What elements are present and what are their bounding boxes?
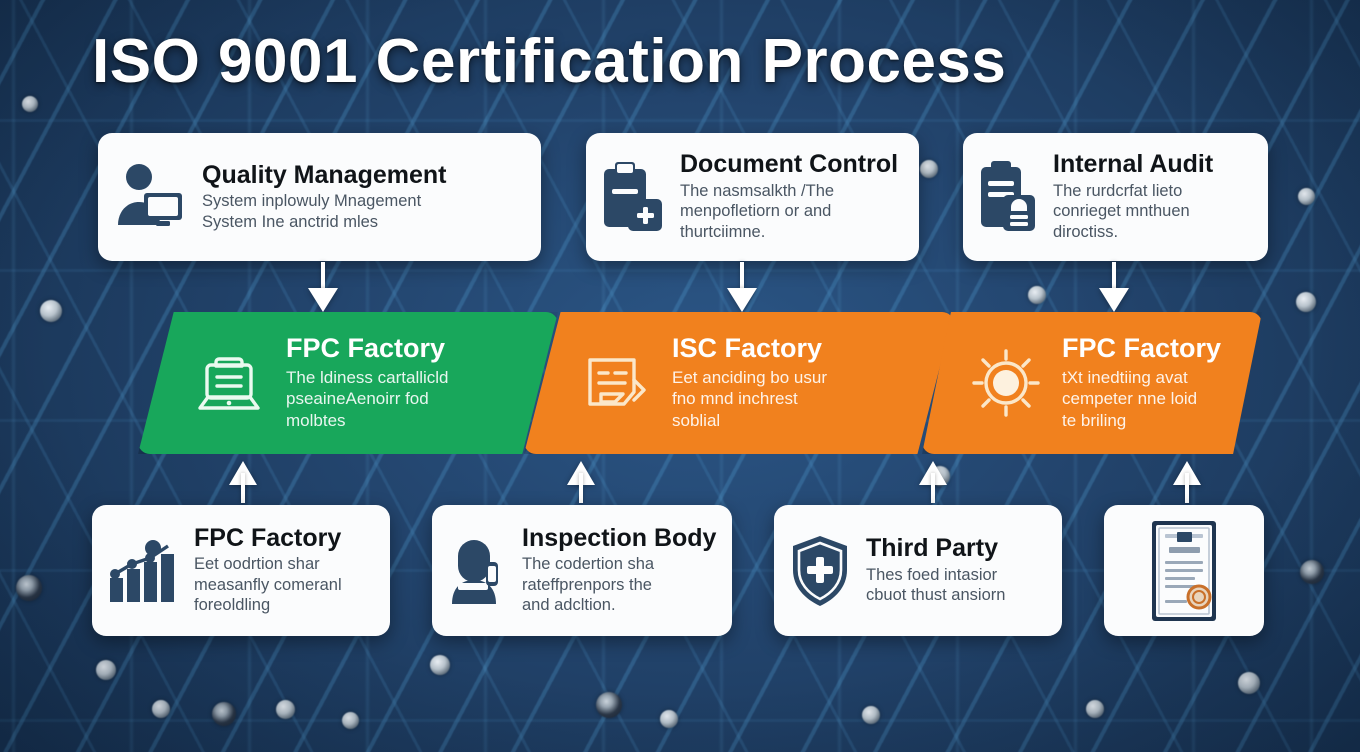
banner-subtitle: The ldiness cartallicld pseaineAenoirr f… [286, 367, 449, 432]
infographic-canvas: ISO 9001 Certification Process Quality M… [0, 0, 1360, 752]
banner-title: ISC Factory [672, 334, 827, 362]
page-title: ISO 9001 Certification Process [92, 26, 1006, 97]
sun-icon [970, 347, 1042, 419]
banner-subtitle: Eet anciding bo usur fno mnd inchrest so… [672, 367, 827, 432]
banner-title: FPC Factory [286, 334, 449, 362]
connector-arrow-down-2 [726, 262, 758, 314]
card-subtitle: Thes foed intasior cbuot thust ansiorn [866, 565, 1005, 606]
card-title: Third Party [866, 535, 1005, 561]
banner-fpc-factory-orange[interactable]: FPC Factory tXt inedtiing avat cempeter … [922, 312, 1262, 454]
laptop-document-icon [192, 348, 266, 418]
card-inspection-body[interactable]: Inspection Body The codertion sha rateff… [432, 505, 732, 636]
connector-arrow-up-1 [228, 461, 258, 503]
banner-subtitle: tXt inedtiing avat cempeter nne loid te … [1062, 367, 1221, 432]
certificate-seal-icon [1140, 517, 1228, 625]
card-title: FPC Factory [194, 525, 342, 551]
card-title: Document Control [680, 151, 898, 177]
card-title: Quality Management [202, 162, 447, 188]
banner-fpc-factory-green[interactable]: FPC Factory The ldiness cartallicld psea… [138, 312, 558, 454]
card-quality-management[interactable]: Quality Management System inplowuly Mnag… [98, 133, 541, 261]
card-internal-audit[interactable]: Internal Audit The rurdcrfat lieto conri… [963, 133, 1268, 261]
connector-arrow-up-2 [566, 461, 596, 503]
connector-arrow-up-3 [918, 461, 948, 503]
card-title: Internal Audit [1053, 151, 1213, 177]
card-subtitle: The rurdcrfat lieto conrieget mnthuen di… [1053, 181, 1213, 243]
connector-arrow-down-1 [307, 262, 339, 314]
growth-chart-icon [106, 536, 180, 606]
clipboard-lock-icon [977, 159, 1039, 235]
card-title: Inspection Body [522, 525, 716, 551]
card-certificate[interactable] [1104, 505, 1264, 636]
banner-isc-factory[interactable]: ISC Factory Eet anciding bo usur fno mnd… [524, 312, 954, 454]
card-document-control[interactable]: Document Control The nasmsalkth /The men… [586, 133, 919, 261]
card-fpc-factory-metrics[interactable]: FPC Factory Eet oodrtion shar measanfly … [92, 505, 390, 636]
card-subtitle: The codertion sha rateffprenpors the and… [522, 554, 716, 616]
card-subtitle: The nasmsalkth /The menpofletiorn or and… [680, 181, 898, 243]
shield-plus-icon [788, 533, 852, 609]
document-edit-icon [582, 350, 652, 416]
user-with-monitor-icon [112, 161, 188, 233]
connector-arrow-up-4 [1172, 461, 1202, 503]
card-third-party[interactable]: Third Party Thes foed intasior cbuot thu… [774, 505, 1062, 636]
banner-title: FPC Factory [1062, 334, 1221, 362]
card-subtitle: Eet oodrtion shar measanfly comeranl for… [194, 554, 342, 616]
inspector-person-icon [446, 534, 508, 608]
connector-arrow-down-3 [1098, 262, 1130, 314]
clipboard-plus-icon [600, 159, 666, 235]
card-subtitle: System inplowuly Mnagement System Ine an… [202, 191, 447, 232]
